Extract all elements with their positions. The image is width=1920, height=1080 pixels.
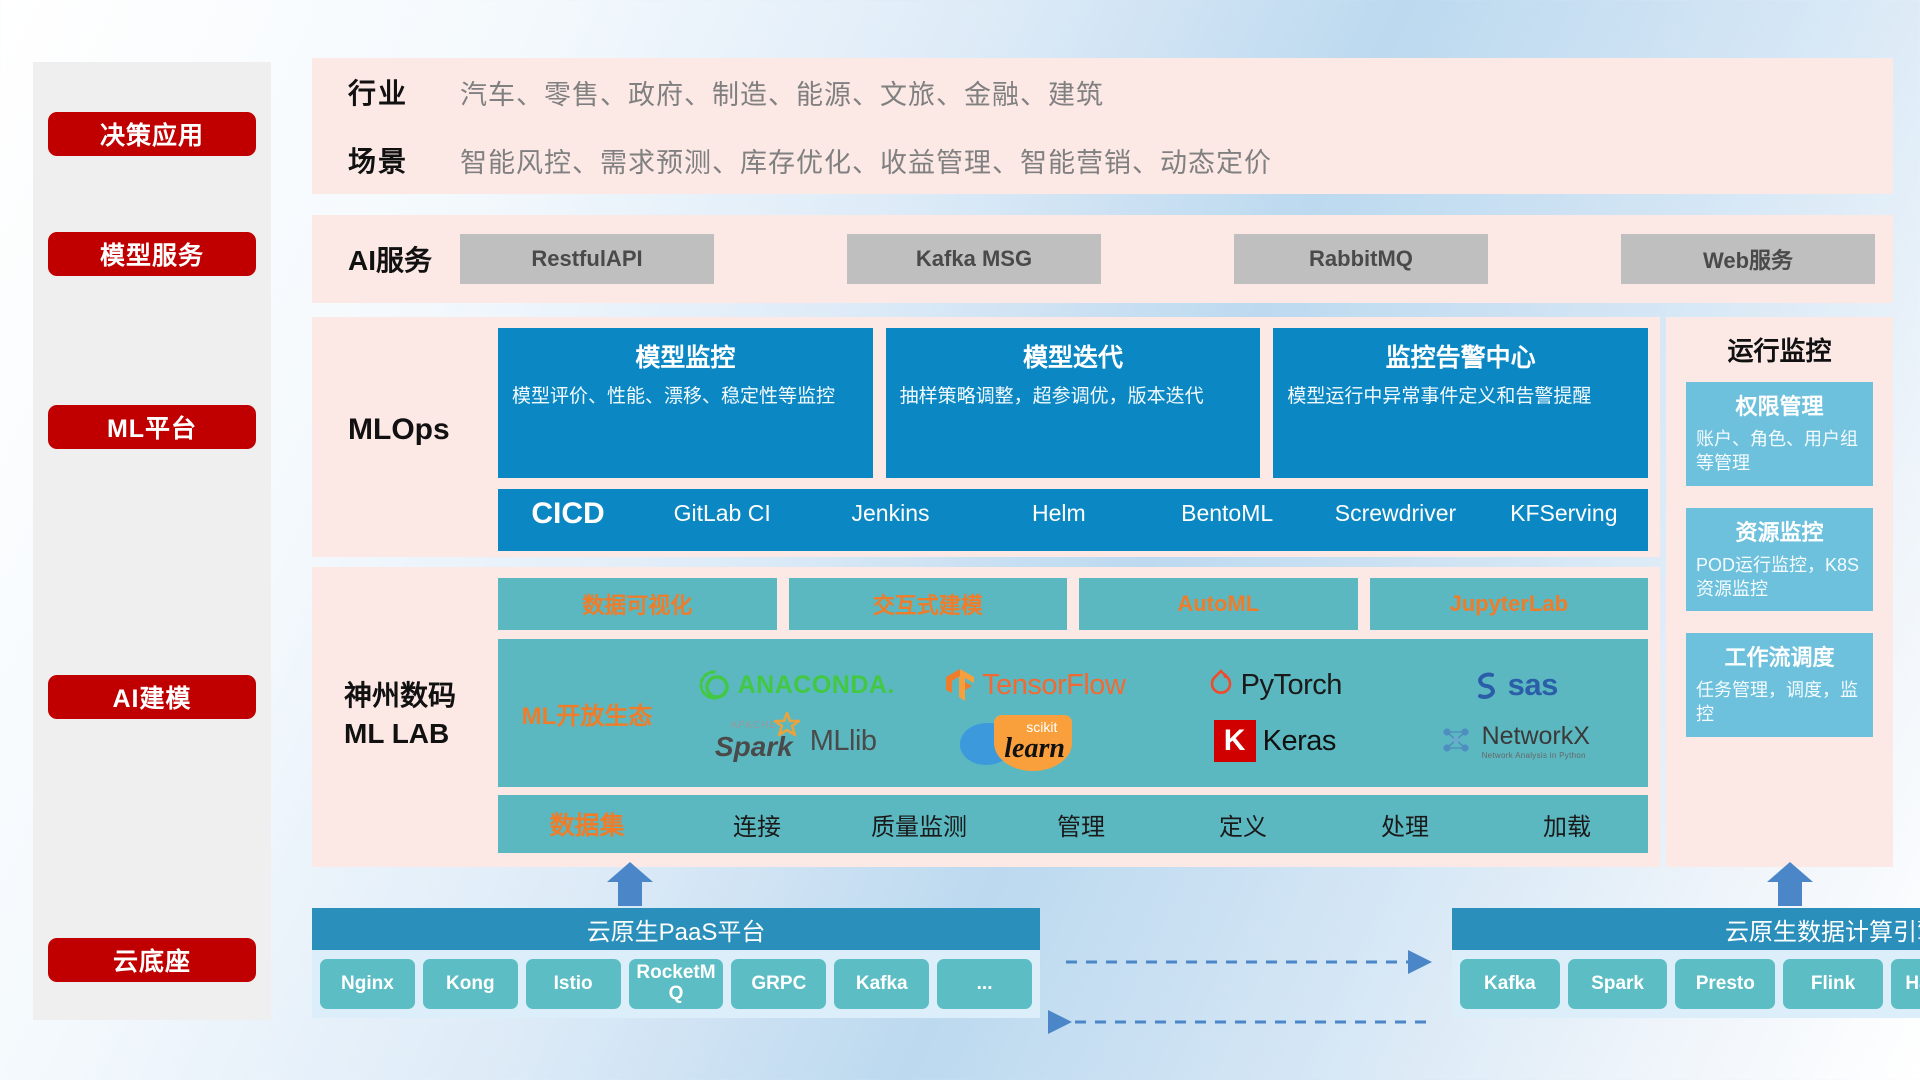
mlops-card-model-iteration[interactable]: 模型迭代 抽样策略调整，超参调优，版本迭代 xyxy=(886,328,1261,478)
up-arrow-paas-icon xyxy=(606,862,654,906)
networkx-wordmark: NetworkX xyxy=(1482,722,1590,751)
ml-lab-tab-data-visualization[interactable]: 数据可视化 xyxy=(498,578,777,630)
paas-pill-nginx[interactable]: Nginx xyxy=(320,959,415,1009)
scikit-learn-logo: scikit learn xyxy=(960,713,1110,769)
layer-chip-ai-modeling[interactable]: AI建模 xyxy=(48,675,256,719)
mlops-card-list: 模型监控 模型评价、性能、漂移、稳定性等监控 模型迭代 抽样策略调整，超参调优，… xyxy=(498,328,1648,478)
dataset-item-definition[interactable]: 定义 xyxy=(1162,807,1324,842)
spark-star-icon xyxy=(774,712,800,738)
learn-word: learn xyxy=(1004,733,1065,765)
keras-wordmark: Keras xyxy=(1263,725,1336,758)
scenario-label: 场景 xyxy=(348,140,460,180)
apache-label: APACHE xyxy=(731,720,777,731)
layer-chip-model-service[interactable]: 模型服务 xyxy=(48,232,256,276)
card-desc: 抽样策略调整，超参调优，版本迭代 xyxy=(900,384,1247,411)
architecture-diagram: 决策应用 模型服务 ML平台 AI建模 云底座 行业 汽车、零售、政府、制造、能… xyxy=(0,0,1920,1080)
dataset-item-loading[interactable]: 加载 xyxy=(1486,807,1648,842)
mlops-label: MLOps xyxy=(348,413,450,447)
ml-lab-label: 神州数码 ML LAB xyxy=(344,677,494,753)
cicd-title: CICD xyxy=(498,497,638,531)
networkx-tagline: Network Analysis in Python xyxy=(1482,751,1590,760)
ml-lab-tab-jupyterlab[interactable]: JupyterLab xyxy=(1370,578,1649,630)
dataset-item-connect[interactable]: 连接 xyxy=(676,807,838,842)
ai-service-chip-rabbitmq[interactable]: RabbitMQ xyxy=(1234,234,1488,284)
paas-pill-istio[interactable]: Istio xyxy=(526,959,621,1009)
card-desc: 账户、角色、用户组等管理 xyxy=(1696,427,1863,476)
networkx-graph-icon xyxy=(1439,724,1475,758)
cicd-item-jenkins[interactable]: Jenkins xyxy=(806,497,974,526)
anaconda-logo: ANACONDA. xyxy=(697,668,895,702)
mllib-wordmark: MLlib xyxy=(810,725,877,758)
scenario-value: 智能风控、需求预测、库存优化、收益管理、智能营销、动态定价 xyxy=(460,141,1272,180)
tensorflow-wordmark: TensorFlow xyxy=(982,669,1125,702)
card-title: 资源监控 xyxy=(1696,515,1863,547)
keras-letter: K xyxy=(1224,724,1246,758)
data-engine-pill-flink[interactable]: Flink xyxy=(1783,959,1883,1009)
industry-value: 汽车、零售、政府、制造、能源、文旅、金融、建筑 xyxy=(460,73,1104,112)
ai-service-chip-list: RestfulAPI Kafka MSG RabbitMQ Web服务 xyxy=(460,234,1893,284)
tensorflow-mark-icon xyxy=(945,668,975,702)
mlops-band: MLOps 模型监控 模型评价、性能、漂移、稳定性等监控 模型迭代 抽样策略调整… xyxy=(312,317,1660,557)
ai-service-band: AI服务 RestfulAPI Kafka MSG RabbitMQ Web服务 xyxy=(312,215,1893,303)
layer-chip-label: ML平台 xyxy=(107,409,197,445)
paas-pill-rocketmq[interactable]: RocketMQ xyxy=(629,959,724,1009)
sas-logo: sas xyxy=(1471,667,1558,703)
card-desc: 模型运行中异常事件定义和告警提醒 xyxy=(1287,384,1634,411)
layer-chip-decision-app[interactable]: 决策应用 xyxy=(48,112,256,156)
paas-header: 云原生PaaS平台 xyxy=(312,908,1040,950)
ai-service-chip-web-service[interactable]: Web服务 xyxy=(1621,234,1875,284)
card-title: 模型迭代 xyxy=(900,338,1247,374)
tensorflow-logo: TensorFlow xyxy=(945,668,1125,702)
keras-logo: K Keras xyxy=(1214,720,1336,762)
ai-service-label: AI服务 xyxy=(348,239,460,279)
ai-service-chip-kafka-msg[interactable]: Kafka MSG xyxy=(847,234,1101,284)
cloud-native-paas-block: 云原生PaaS平台 Nginx Kong Istio RocketMQ GRPC… xyxy=(312,908,1040,1018)
cicd-item-bentoml[interactable]: BentoML xyxy=(1143,497,1311,526)
ml-lab-band: 神州数码 ML LAB 数据可视化 交互式建模 AutoML JupyterLa… xyxy=(312,567,1660,867)
dataset-bar: 数据集 连接 质量监测 管理 定义 处理 加载 xyxy=(498,795,1648,853)
cicd-bar: CICD GitLab CI Jenkins Helm BentoML Scre… xyxy=(498,489,1648,551)
monitor-card-resource[interactable]: 资源监控 POD运行监控，K8S资源监控 xyxy=(1686,508,1873,612)
paas-pill-kafka[interactable]: Kafka xyxy=(834,959,929,1009)
pytorch-logo: PyTorch xyxy=(1208,669,1342,702)
main-column: 行业 汽车、零售、政府、制造、能源、文旅、金融、建筑 场景 智能风控、需求预测、… xyxy=(306,0,1906,1080)
anaconda-wordmark: ANACONDA. xyxy=(738,671,895,700)
layer-chip-label: AI建模 xyxy=(112,679,191,715)
keras-mark-icon: K xyxy=(1214,720,1256,762)
ml-open-ecosystem-label: ML开放生态 xyxy=(498,696,676,731)
data-engine-header: 云原生数据计算引擎 xyxy=(1452,908,1920,950)
ml-lab-label-line2: ML LAB xyxy=(344,715,494,753)
pytorch-flame-icon xyxy=(1208,669,1234,701)
cicd-item-helm[interactable]: Helm xyxy=(975,497,1143,526)
spark-mllib-logo: APACHE Spark MLlib xyxy=(715,720,877,763)
card-title: 模型监控 xyxy=(512,338,859,374)
data-engine-pill-presto[interactable]: Presto xyxy=(1675,959,1775,1009)
card-desc: 模型评价、性能、漂移、稳定性等监控 xyxy=(512,384,859,411)
industry-row: 行业 汽车、零售、政府、制造、能源、文旅、金融、建筑 xyxy=(312,58,1893,126)
card-title: 监控告警中心 xyxy=(1287,338,1634,374)
scenario-row: 场景 智能风控、需求预测、库存优化、收益管理、智能营销、动态定价 xyxy=(312,126,1893,194)
dataset-item-management[interactable]: 管理 xyxy=(1000,807,1162,842)
ml-lab-tab-interactive-modeling[interactable]: 交互式建模 xyxy=(789,578,1068,630)
sas-mark-icon xyxy=(1471,669,1501,701)
cloud-native-data-engine-block: 云原生数据计算引擎 Kafka Spark Presto Flink Hadoo… xyxy=(1452,908,1920,1018)
ml-lab-label-line1: 神州数码 xyxy=(344,677,494,715)
card-desc: 任务管理，调度，监控 xyxy=(1696,678,1863,727)
cicd-item-screwdriver[interactable]: Screwdriver xyxy=(1311,497,1479,526)
data-engine-pill-spark[interactable]: Spark xyxy=(1568,959,1668,1009)
networkx-logo: NetworkX Network Analysis in Python xyxy=(1439,722,1590,760)
runtime-monitor-panel: 运行监控 权限管理 账户、角色、用户组等管理 资源监控 POD运行监控，K8S资… xyxy=(1666,317,1893,867)
card-title: 权限管理 xyxy=(1696,389,1863,421)
card-title: 工作流调度 xyxy=(1696,640,1863,672)
runtime-monitor-title: 运行监控 xyxy=(1666,317,1893,382)
data-engine-pill-hadoop[interactable]: Hadoop xyxy=(1891,959,1920,1009)
monitor-card-workflow[interactable]: 工作流调度 任务管理，调度，监控 xyxy=(1686,633,1873,737)
up-arrow-data-engine-icon xyxy=(1766,862,1814,906)
mlops-card-alert-center[interactable]: 监控告警中心 模型运行中异常事件定义和告警提醒 xyxy=(1273,328,1648,478)
monitor-card-permission[interactable]: 权限管理 账户、角色、用户组等管理 xyxy=(1686,382,1873,486)
mlops-card-model-monitoring[interactable]: 模型监控 模型评价、性能、漂移、稳定性等监控 xyxy=(498,328,873,478)
layer-chip-label: 模型服务 xyxy=(100,236,204,272)
sas-wordmark: sas xyxy=(1508,667,1558,703)
layer-chip-ml-platform[interactable]: ML平台 xyxy=(48,405,256,449)
layer-chip-label: 云底座 xyxy=(113,942,191,978)
pytorch-wordmark: PyTorch xyxy=(1241,669,1342,702)
dataset-item-processing[interactable]: 处理 xyxy=(1324,807,1486,842)
layer-chip-label: 决策应用 xyxy=(100,116,204,152)
ml-lab-tab-automl[interactable]: AutoML xyxy=(1079,578,1358,630)
bidirectional-link-arrows-icon xyxy=(1046,940,1446,1050)
data-engine-pill-kafka[interactable]: Kafka xyxy=(1460,959,1560,1009)
paas-pill-list: Nginx Kong Istio RocketMQ GRPC Kafka ... xyxy=(312,950,1040,1018)
cicd-item-gitlab-ci[interactable]: GitLab CI xyxy=(638,497,806,526)
cicd-item-kfserving[interactable]: KFServing xyxy=(1480,497,1648,526)
layer-chip-cloud-base[interactable]: 云底座 xyxy=(48,938,256,982)
anaconda-mark-icon xyxy=(697,668,731,702)
card-desc: POD运行监控，K8S资源监控 xyxy=(1696,553,1863,602)
industry-scenario-band: 行业 汽车、零售、政府、制造、能源、文旅、金融、建筑 场景 智能风控、需求预测、… xyxy=(312,58,1893,194)
dataset-label: 数据集 xyxy=(498,806,676,842)
paas-pill-kong[interactable]: Kong xyxy=(423,959,518,1009)
ai-service-chip-restfulapi[interactable]: RestfulAPI xyxy=(460,234,714,284)
dataset-item-quality-monitoring[interactable]: 质量监测 xyxy=(838,807,1000,842)
paas-pill-more[interactable]: ... xyxy=(937,959,1032,1009)
ecosystem-logo-grid: ANACONDA. TensorFlow xyxy=(676,657,1648,769)
layer-label-rail xyxy=(33,62,271,1020)
data-engine-pill-list: Kafka Spark Presto Flink Hadoop Storm ..… xyxy=(1452,950,1920,1018)
paas-pill-grpc[interactable]: GRPC xyxy=(731,959,826,1009)
ml-lab-tab-list: 数据可视化 交互式建模 AutoML JupyterLab xyxy=(498,578,1648,630)
industry-label: 行业 xyxy=(348,72,460,112)
ml-open-ecosystem: ML开放生态 ANACONDA. xyxy=(498,639,1648,787)
